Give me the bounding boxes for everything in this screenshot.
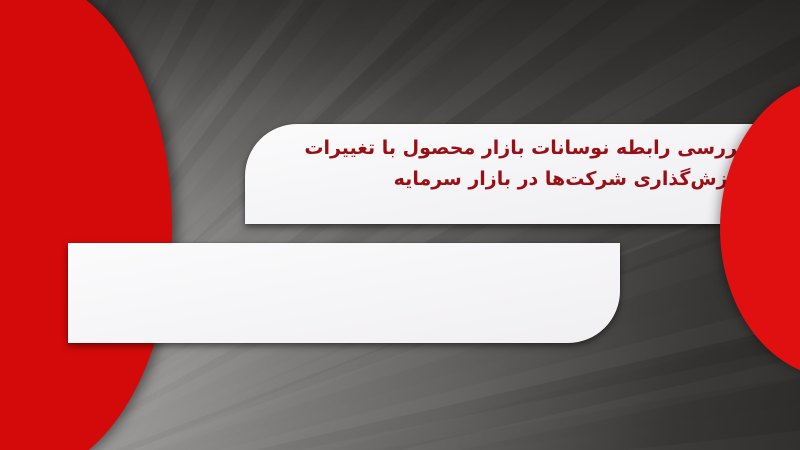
slide-title-line-1: بررسی رابطه نوسانات بازار محصول با تغییر… — [304, 137, 745, 159]
slide-title-line-2: ارزش‌گذاری شرکت‌ها در بازار سرمایه — [394, 168, 745, 190]
title-panel[interactable]: بررسی رابطه نوسانات بازار محصول با تغییر… — [245, 124, 763, 224]
subtitle-panel[interactable] — [68, 243, 620, 343]
title-slide: بررسی رابطه نوسانات بازار محصول با تغییر… — [0, 0, 800, 450]
slide-title: بررسی رابطه نوسانات بازار محصول با تغییر… — [285, 133, 745, 195]
